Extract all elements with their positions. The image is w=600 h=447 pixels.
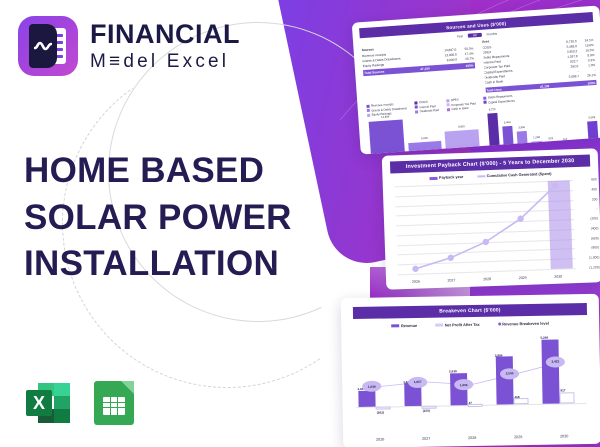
breakeven-title: Breakeven Chart ($'000) (353, 303, 587, 319)
uses-total-label: Total Uses (486, 87, 502, 92)
poster-canvas: FINANCIAL M≡del Excel HOME BASED SOLAR P… (0, 0, 600, 447)
brand-text: FINANCIAL M≡del Excel (90, 21, 240, 71)
bar-group: 2,619471,656 (447, 333, 494, 412)
legend-item: Capital Expenditures (484, 98, 515, 104)
x-tick-label: 2028 (483, 277, 491, 281)
google-sheets-icon (94, 381, 134, 425)
bar-group: 1,340(262)1,639 (355, 334, 402, 413)
sources-total-value: 47,100 (420, 67, 430, 72)
npat-label: 917 (560, 389, 565, 393)
control-months-label: months (486, 32, 497, 37)
x-tick-label: 2027 (447, 278, 455, 282)
row-pct: 20.7% (457, 56, 474, 62)
breakeven-bubble: 1,656 (454, 379, 473, 390)
uses-total-value: 47,100 (540, 84, 550, 89)
revenue-bar (358, 390, 375, 407)
brand-lockup: FINANCIAL M≡del Excel (18, 16, 240, 76)
sources-table: Sources Revenue receipts14,897.050.3%Gra… (362, 41, 477, 102)
uses-total-pct: 100% (587, 80, 595, 85)
revenue-label: 5,266 (540, 336, 548, 340)
y-tick-label: 400 (591, 187, 597, 191)
bar-value-label: 1,268 (531, 136, 541, 140)
sources-total-label: Total Sources (364, 70, 384, 75)
bar: 8,720 (487, 113, 500, 149)
x-tick-label: 2026 (412, 280, 420, 284)
excel-x-glyph: X (26, 390, 52, 416)
revenue-bar (496, 357, 514, 405)
bar-group: 3,9044582,505 (493, 332, 540, 411)
uses-legend-col-c: Debts RepaymentsCapital Expenditures (483, 94, 515, 109)
revenue-bar (541, 339, 559, 404)
x-tick-label: 2029 (519, 276, 527, 280)
revenue-label: 3,904 (495, 353, 503, 357)
payback-y-axis-labels: 600400200-(200)(400)(600)(800)(1,000)(1,… (574, 179, 600, 268)
microsoft-excel-icon: X (26, 381, 70, 425)
uses-legend-col-a: COGSInterest PaidDividends Paid (414, 99, 439, 114)
breakeven-bubble: 3,422 (546, 356, 565, 367)
brand-subtitle: M≡del Excel (90, 52, 240, 71)
chart-card-investment-payback[interactable]: Investment Payback Chart ($'000) - 5 Yea… (382, 148, 600, 289)
npat-bar (376, 406, 391, 409)
control-year-label: Year (457, 34, 464, 38)
sheets-grid-glyph (103, 397, 125, 415)
bar-value-label: 823 (546, 137, 556, 141)
y-tick-label: (200) (590, 216, 598, 220)
bar-group: 1,848(150)1,957 (401, 333, 448, 412)
uses-table: Uses COGS8,720.024.1%OPEX5,468.819.6%Deb… (482, 32, 597, 93)
legend-breakeven-level: Revenue Breakeven level (498, 321, 549, 327)
sources-total-pct: 100% (465, 63, 473, 68)
breakeven-bubble: 1,957 (408, 376, 427, 387)
x-tick-label: 2028 (449, 436, 495, 441)
bar-value-label: 9,000 (444, 124, 478, 129)
financial-model-logo-icon (18, 16, 78, 76)
wave-icon (34, 40, 52, 52)
brand-title: FINANCIAL (90, 21, 240, 48)
legend-revenue: Revenue (391, 323, 417, 328)
chart-card-sources-and-uses[interactable]: Sources and Uses ($'000) Year All months… (352, 6, 600, 155)
x-tick-label: 2030 (554, 275, 562, 279)
y-tick-label: (400) (591, 226, 599, 230)
npat-bar (559, 392, 574, 403)
bar-value-label: 3,950 (517, 126, 527, 130)
row-value: 5,088.7 (553, 74, 579, 81)
logo-chart-card-shape (29, 24, 57, 68)
breakeven-bubble: 2,505 (500, 368, 519, 379)
x-tick-label: 2029 (495, 435, 541, 440)
legend-npat: Net Profit After Tax (435, 322, 480, 328)
legend-cumulative-cash: Cumulative Cash Generated (Spent) (477, 172, 551, 179)
y-tick-label: (1,000) (589, 255, 600, 259)
bar-value-label: 5,000 (408, 136, 442, 141)
x-tick-label: 2030 (541, 434, 587, 439)
bar-value-label: 8,720 (487, 108, 497, 112)
npat-label: (262) (377, 410, 384, 414)
bar-group: 5,2669173,422 (539, 331, 586, 410)
y-tick-label: (600) (591, 236, 599, 240)
y-tick-label: (800) (591, 246, 599, 250)
page-title: HOME BASED SOLAR POWER INSTALLATION (24, 148, 324, 288)
breakeven-legend: Revenue Net Profit After Tax Revenue Bre… (341, 320, 599, 330)
bar-value-label: 5,469 (502, 121, 512, 125)
cumulative-cash-line (395, 180, 576, 274)
npat-label: 47 (469, 401, 473, 405)
bar-value-label: 5,089 (587, 116, 597, 120)
format-icons: X (26, 381, 134, 425)
payback-x-axis-labels: 20262027202820292030 (398, 274, 576, 284)
row-value: 9,000.0 (431, 57, 457, 64)
y-tick-label: 600 (591, 177, 597, 181)
y-tick-label: 200 (592, 197, 598, 201)
y-tick-label: - (597, 207, 598, 211)
row-pct: 26.1% (579, 73, 596, 79)
breakeven-x-axis-labels: 20262027202820292030 (357, 434, 587, 442)
chart-card-breakeven[interactable]: Breakeven Chart ($'000) Revenue Net Prof… (341, 294, 600, 447)
x-tick-label: 2026 (357, 437, 403, 442)
npat-bar (513, 398, 528, 404)
breakeven-bubble: 1,639 (362, 381, 381, 392)
y-tick-label: (1,200) (589, 265, 600, 269)
breakeven-plot-area: 1,340(262)1,6391,848(150)1,9572,619471,6… (355, 331, 586, 413)
bar: 14,896 (369, 120, 405, 155)
legend-payback-year: Payback year (429, 175, 463, 180)
uses-legend-col-b: OPEXCorporate Tax PaidCash in Bank (446, 96, 476, 111)
npat-label: (150) (423, 408, 430, 412)
x-tick-label: 2027 (403, 436, 449, 441)
npat-label: 458 (514, 395, 519, 399)
revenue-label: 2,619 (449, 370, 457, 374)
payback-plot-area: 600400200-(200)(400)(600)(800)(1,000)(1,… (395, 180, 576, 274)
